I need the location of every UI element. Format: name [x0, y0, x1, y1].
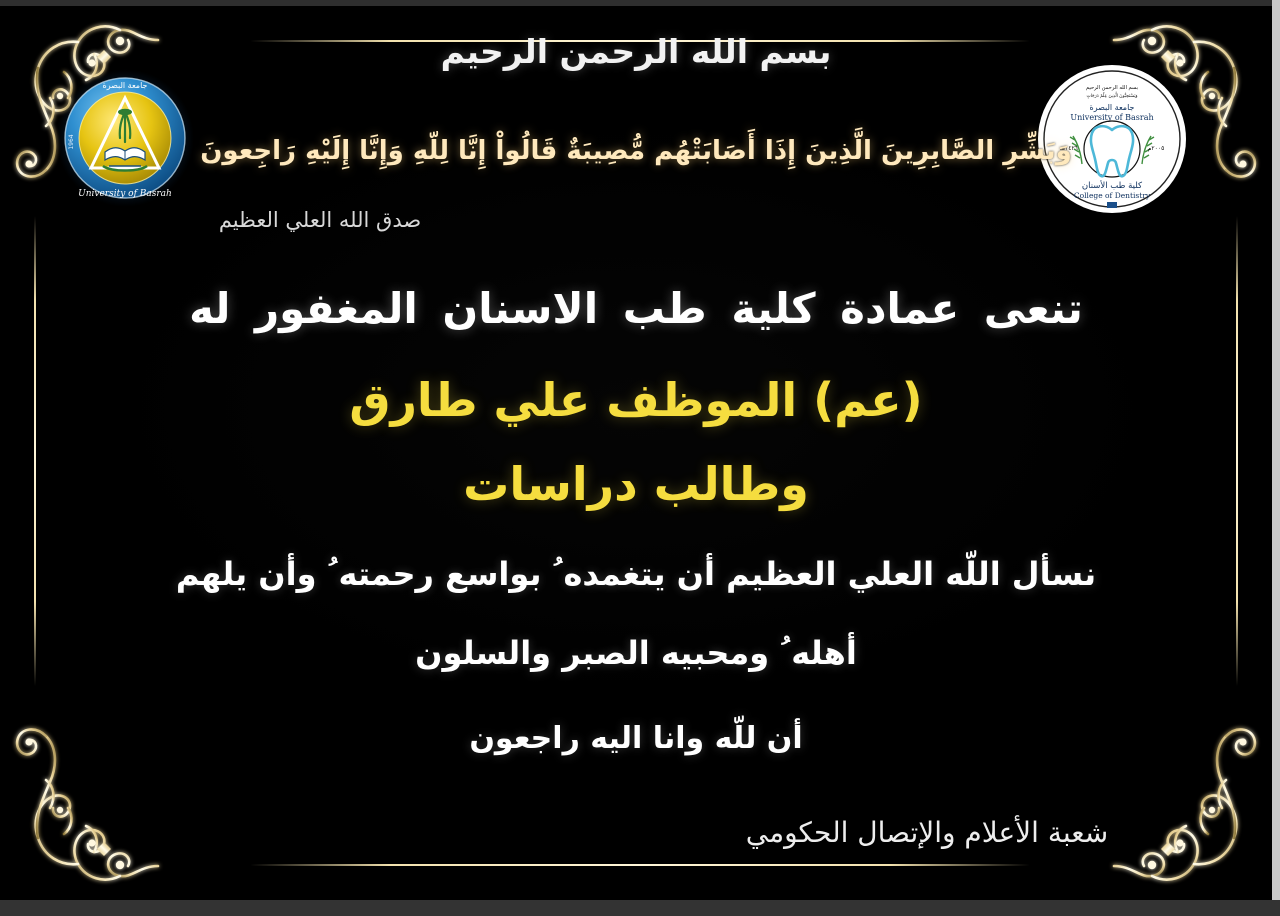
dentistry-arabic-college: كلية طب الأسنان: [1082, 180, 1143, 191]
verse-attribution-text: صدق الله العلي العظيم: [140, 206, 500, 234]
viewer-right-scrollbar[interactable]: [1272, 0, 1280, 916]
obituary-card: جامعة البصرة University of Basrah 1964 ب…: [0, 6, 1272, 900]
issuing-department-signature: شعبة الأعلام والإتصال الحكومي: [667, 814, 1187, 852]
screenshot-viewer: جامعة البصرة University of Basrah 1964 ب…: [0, 0, 1280, 916]
condolence-line-3: أن للّه وانا اليه راجعون: [0, 719, 1272, 760]
logo-english-name: University of Basrah: [78, 189, 172, 199]
viewer-bottom-strip: [0, 900, 1280, 916]
deceased-name: (عم) الموظف علي طارق: [0, 369, 1272, 431]
bismillah-text: بسم الله الرحمن الرحيم: [0, 30, 1272, 75]
dentistry-arabic-university: جامعة البصرة: [1090, 103, 1135, 112]
announcement-line: تنعى عمادة كلية طب الاسنان المغفور له: [0, 281, 1272, 338]
ornament-corner-bottom-right: [1034, 662, 1264, 892]
condolence-line-2: أهله ُ ومحبيه الصبر والسلون: [0, 632, 1272, 675]
logo-arabic-name: جامعة البصرة: [103, 81, 148, 90]
quran-verse-text: وَبَشِّرِ الصَّابِرِينَ الَّذِينَ إِذَا …: [0, 134, 1272, 169]
condolence-line-1: نسأل اللّه العلي العظيم أن يتغمده ُ بواس…: [0, 553, 1272, 596]
ornament-corner-bottom-left: [8, 662, 238, 892]
frame-line-bottom: [250, 864, 1030, 866]
deceased-role: وطالب دراسات: [0, 453, 1272, 515]
dentistry-basmala: بسم الله الرحمن الرحيم: [1086, 85, 1138, 91]
dentistry-english-college: College of Dentistry: [1074, 191, 1151, 200]
